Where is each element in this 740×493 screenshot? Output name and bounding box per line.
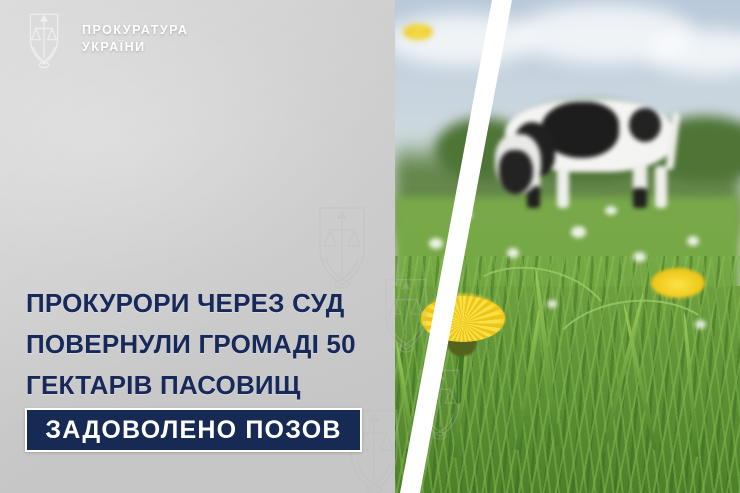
white-blossom [429,238,443,249]
status-badge-label: ЗАДОВОЛЕНО ПОЗОВ [45,416,341,445]
cloud-shape [395,14,535,66]
white-blossom [461,210,472,219]
news-banner: ПРОКУРАТУРА УКРАЇНИ ПРОКУРОРИ ЧЕРЕЗ СУД … [0,0,740,493]
dandelion-distant [403,24,433,40]
organization-name: ПРОКУРАТУРА УКРАЇНИ [82,22,188,56]
white-blossom [633,252,646,262]
cow-leg [655,166,667,208]
status-badge: ЗАДОВОЛЕНО ПОЗОВ [25,408,362,452]
headline-text: ПРОКУРОРИ ЧЕРЕЗ СУД ПОВЕРНУЛИ ГРОМАДІ 50… [26,283,386,406]
prosecutor-emblem-icon [16,8,72,70]
cow-leg [557,168,569,208]
cow-hoof [633,188,647,208]
cow-patch [629,108,661,142]
cow-figure [483,82,698,207]
organization-logo: ПРОКУРАТУРА УКРАЇНИ [16,8,188,70]
cow-head-patch [499,150,533,194]
white-blossom [687,236,699,246]
white-blossom [605,206,617,215]
white-blossom [571,226,586,238]
prosecutor-emblem-watermark-icon [404,360,476,446]
white-blossom [507,248,519,258]
dandelion-head [651,268,705,298]
